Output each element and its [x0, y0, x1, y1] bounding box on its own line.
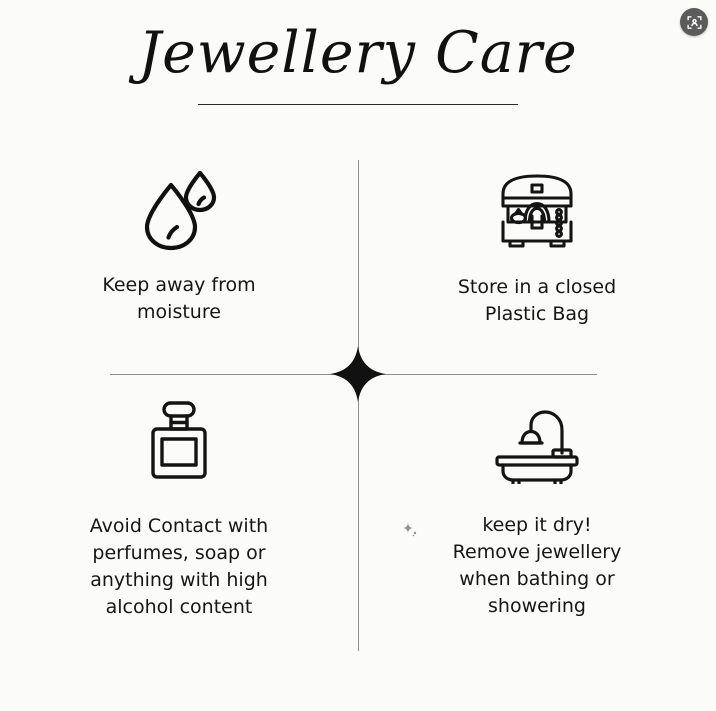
- quadrant-keep-away-from-moisture: Keep away from moisture: [0, 150, 358, 374]
- perfume-bottle-icon: [143, 392, 215, 488]
- page-title: Jewellery Care: [0, 24, 716, 84]
- quadrant-caption: Avoid Contact with perfumes, soap or any…: [90, 513, 268, 621]
- care-instruction-grid: Keep away from moisture: [0, 150, 716, 670]
- quadrant-avoid-contact-with-perfumes: Avoid Contact with perfumes, soap or any…: [0, 374, 358, 670]
- bathtub-shower-icon: [491, 396, 583, 492]
- title-block: Jewellery Care: [0, 24, 716, 105]
- quadrant-store-in-closed-plastic-bag: Store in a closed Plastic Bag: [358, 150, 716, 374]
- small-sparkle-icon: [402, 522, 420, 540]
- quadrant-caption: Store in a closed Plastic Bag: [458, 274, 616, 328]
- quadrant-keep-it-dry-remove-jewellery: keep it dry! Remove jewellery when bathi…: [358, 374, 716, 670]
- quadrant-caption: keep it dry! Remove jewellery when bathi…: [453, 512, 622, 620]
- quadrant-caption: Keep away from moisture: [102, 272, 255, 326]
- water-droplets-icon: [137, 160, 221, 256]
- title-underline-rule: [198, 104, 518, 105]
- jewellery-box-icon: [494, 162, 580, 258]
